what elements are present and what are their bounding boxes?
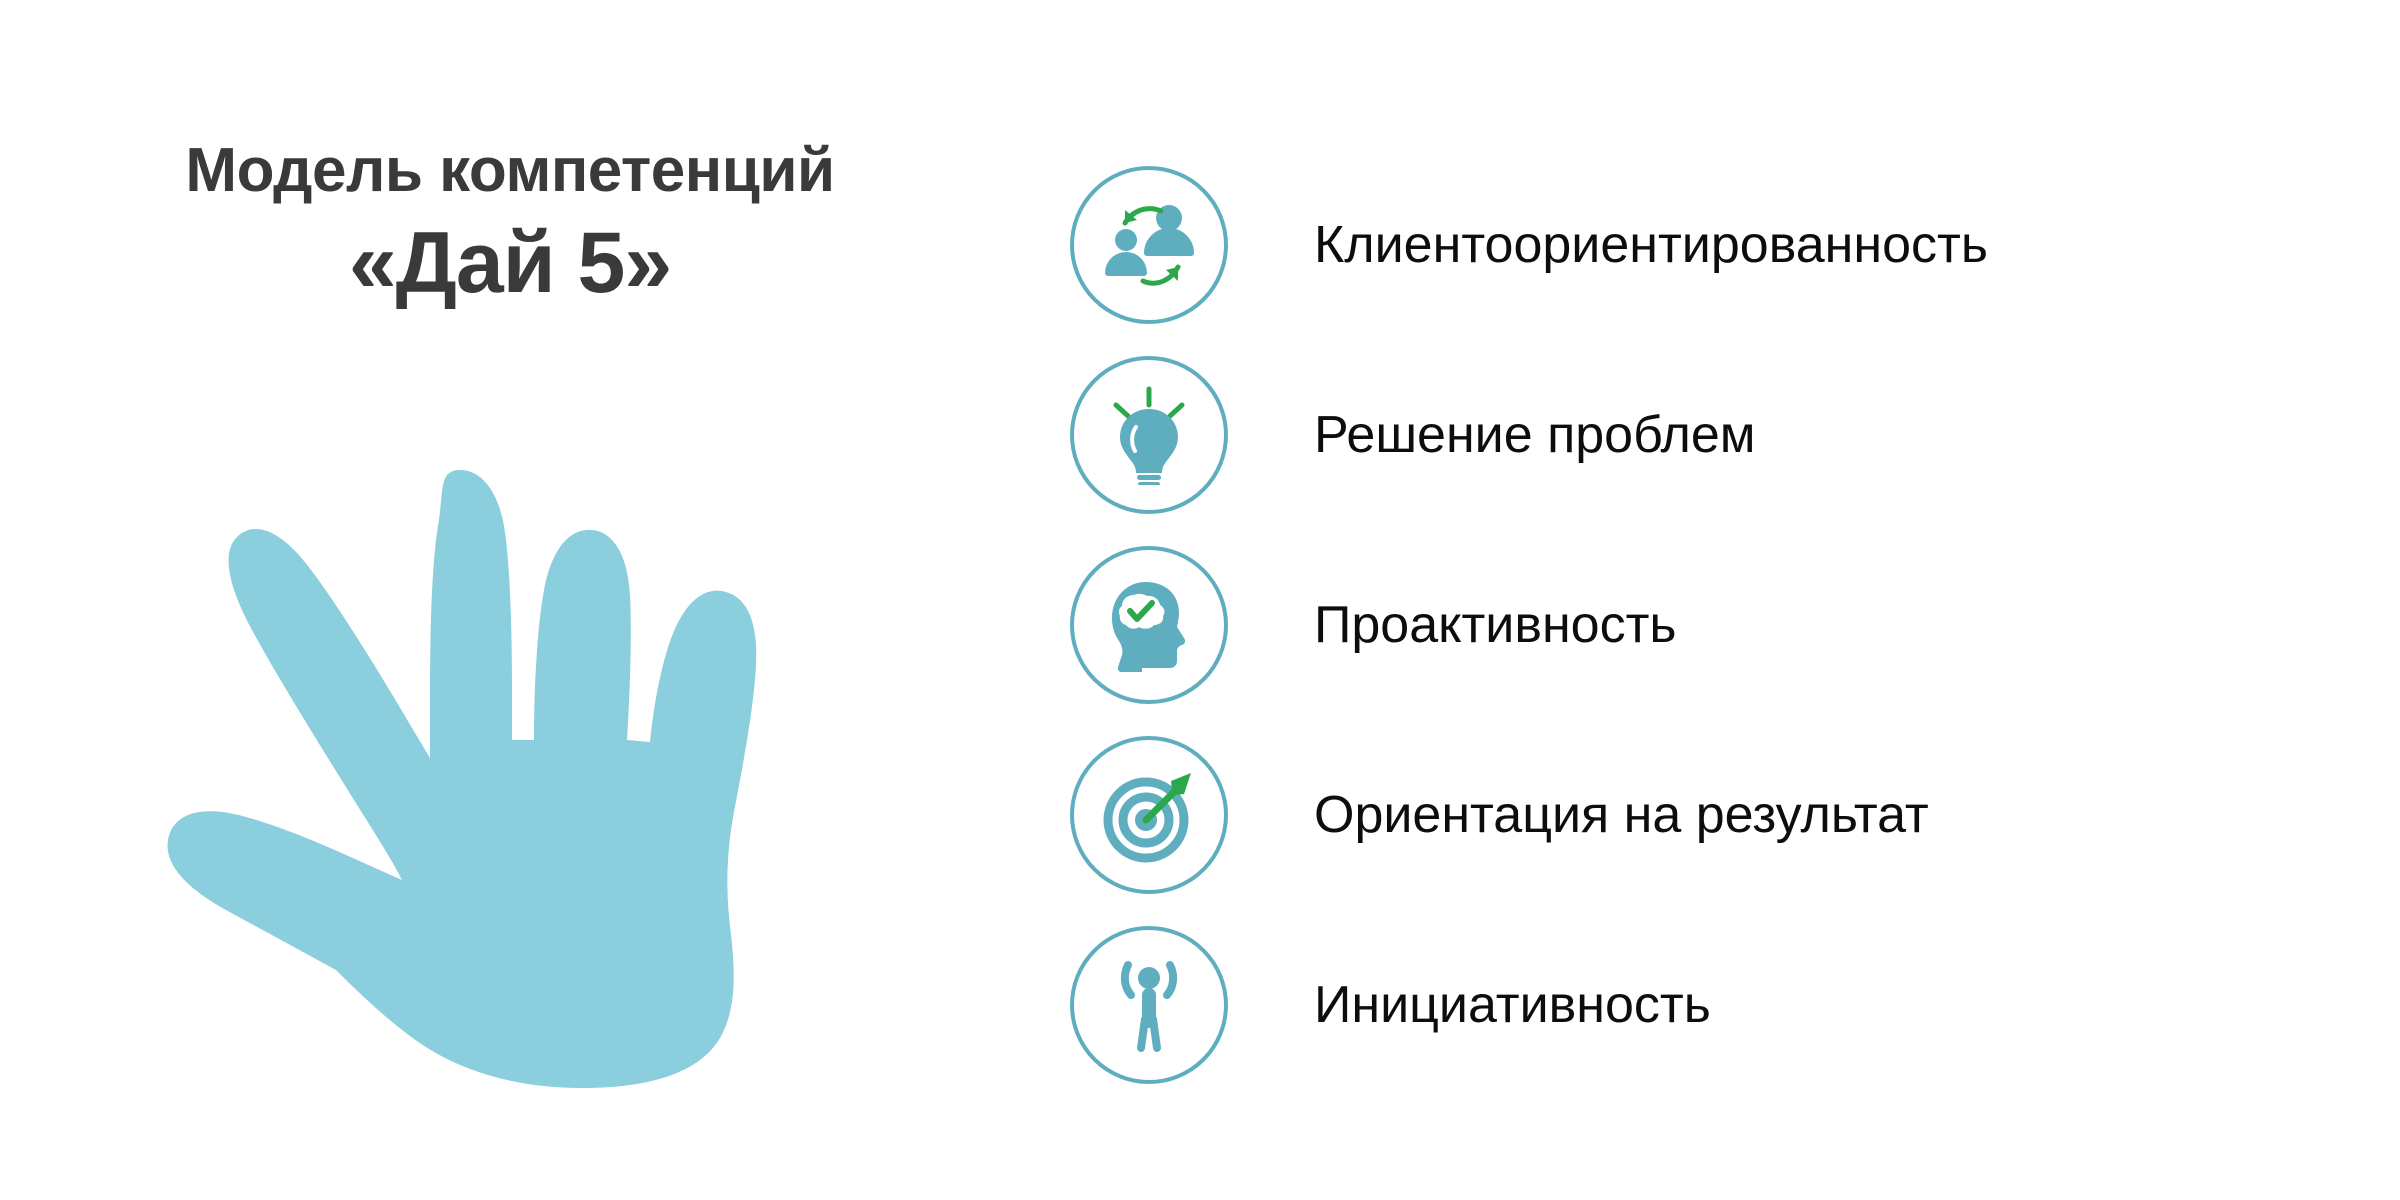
- competency-label: Инициативность: [1314, 975, 1711, 1035]
- competency-list: Клиентоориентированность: [1070, 150, 2370, 1100]
- page-title-line-2: «Дай 5»: [0, 214, 1020, 313]
- competency-label: Клиентоориентированность: [1314, 215, 1988, 275]
- page-title-line-1: Модель компетенций: [0, 140, 1020, 202]
- target-arrow-icon: [1070, 736, 1228, 894]
- two-people-exchange-icon: [1070, 166, 1228, 324]
- person-arms-raised-icon: [1070, 926, 1228, 1084]
- competency-row[interactable]: Инициативность: [1070, 910, 2370, 1100]
- title-block: Модель компетенций «Дай 5»: [0, 140, 1020, 313]
- competency-label: Решение проблем: [1314, 405, 1756, 465]
- head-brain-check-icon: [1070, 546, 1228, 704]
- lightbulb-icon: [1070, 356, 1228, 514]
- competency-label: Ориентация на результат: [1314, 785, 1929, 845]
- competency-label: Проактивность: [1314, 595, 1677, 655]
- competency-row[interactable]: Проактивность: [1070, 530, 2370, 720]
- competency-row[interactable]: Ориентация на результат: [1070, 720, 2370, 910]
- competency-row[interactable]: Решение проблем: [1070, 340, 2370, 530]
- competency-row[interactable]: Клиентоориентированность: [1070, 150, 2370, 340]
- left-column: Модель компетенций «Дай 5»: [0, 0, 1020, 1200]
- open-hand-five-fingers-icon: [130, 440, 870, 1090]
- slide-canvas: Модель компетенций «Дай 5»: [0, 0, 2400, 1200]
